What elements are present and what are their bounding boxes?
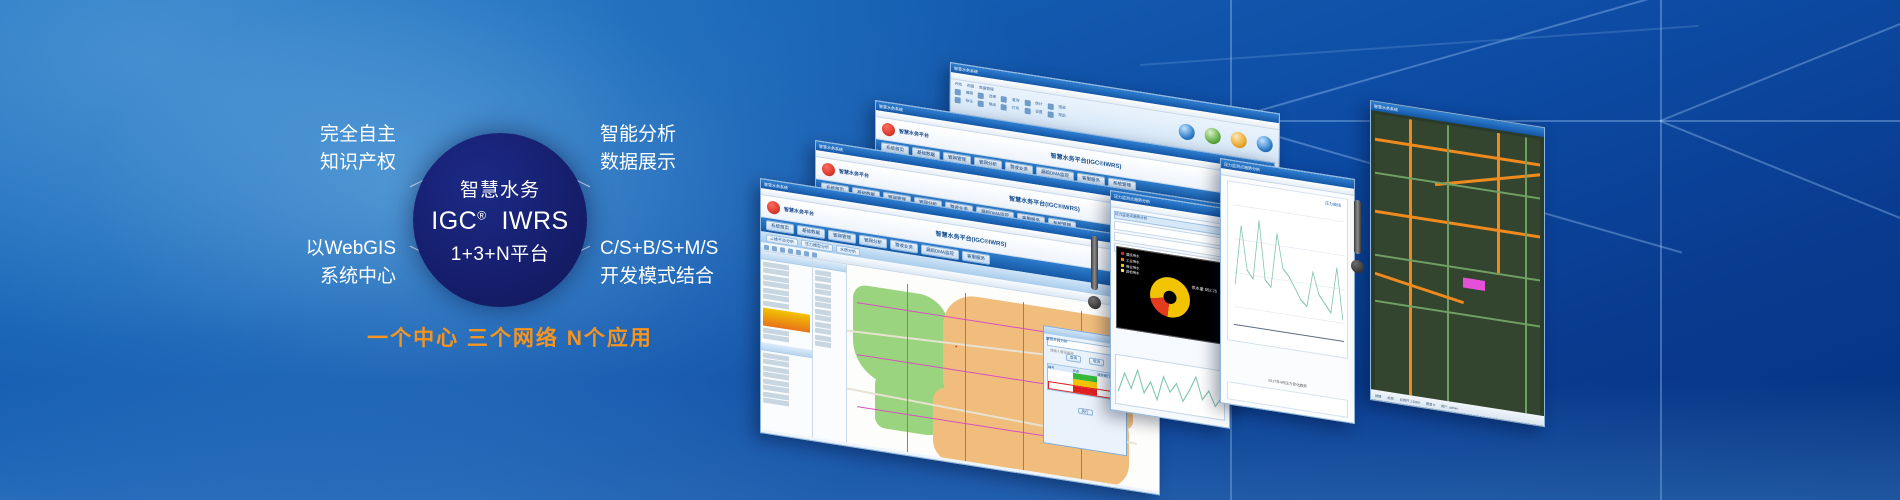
water-drop-logo-icon: [767, 200, 780, 215]
pie-legend: 居民用水 工业用水 商业用水 其他用水: [1121, 252, 1140, 278]
ribbon-icon[interactable]: [1047, 103, 1053, 110]
window-caption: 智慧水务系统: [1374, 103, 1398, 113]
chart-zoom-slider[interactable]: [1354, 199, 1361, 254]
ribbon-command[interactable]: 统计: [1035, 101, 1042, 108]
pie-chart-panel: 居民用水 工业用水 商业用水 其他用水 供水量 552.25: [1116, 246, 1224, 345]
status-item: 坐标: [1387, 394, 1393, 400]
feature-label-top-right: 智能分析 数据展示: [600, 121, 676, 176]
feature-line: 以WebGIS: [196, 235, 396, 263]
badge-iwrs: IWRS: [501, 207, 568, 235]
product-badge-circle: 智慧水务 IGC® IWRS 1+3+N平台: [413, 133, 587, 307]
network-model-icon[interactable]: [1179, 123, 1195, 141]
feature-line: 完全自主: [196, 121, 396, 149]
badge-platform: 1+3+N平台: [451, 239, 550, 266]
zoom-out-icon[interactable]: [780, 247, 785, 253]
ribbon-tab[interactable]: 数据管理: [979, 86, 993, 93]
satellite-map-canvas[interactable]: [1375, 114, 1540, 416]
map-annotation: ●: [955, 343, 957, 348]
status-item: 比例尺 1:5000: [1400, 396, 1420, 404]
status-item: 图层 8: [1426, 400, 1435, 406]
pan-icon[interactable]: [764, 244, 769, 250]
feature-line: 开发模式结合: [600, 263, 718, 291]
dialog-execute-button[interactable]: 执行: [1078, 408, 1093, 416]
app-window-trend-chart[interactable]: 压力监测点趋势分析 压力曲线 2017年4月压力变化趋势: [1220, 158, 1355, 424]
brand-text: 智慧水务平台: [839, 168, 869, 180]
ribbon-icon[interactable]: [1001, 104, 1007, 111]
water-drop-logo-icon: [822, 162, 835, 177]
ribbon-command[interactable]: 帮助: [1058, 113, 1065, 120]
legend-swatch: [1121, 252, 1124, 255]
registered-icon: ®: [477, 208, 486, 222]
ribbon-command[interactable]: 标注: [966, 98, 973, 105]
app-window-statistics[interactable]: 压力监测点趋势分析 压力监测点趋势分析 居民用水 工业用水 商业用水 其他用水 …: [1110, 190, 1230, 429]
ribbon-command[interactable]: 编辑: [966, 90, 973, 97]
legend-swatch: [1121, 269, 1124, 272]
tagline: 一个中心 三个网络 N个应用: [300, 322, 720, 352]
ribbon-icon[interactable]: [955, 89, 961, 96]
feature-label-top-left: 完全自主 知识产权: [196, 121, 396, 176]
feature-label-bottom-left: 以WebGIS 系统中心: [196, 235, 396, 290]
measure-icon[interactable]: [796, 249, 801, 255]
ribbon-command[interactable]: 选择: [989, 94, 996, 101]
feature-line: 系统中心: [196, 263, 396, 291]
mini-trend-chart: [1115, 354, 1225, 421]
badge-title: 智慧水务: [460, 175, 540, 202]
feature-label-bottom-right: C/S+B/S+M/S 开发模式结合: [600, 235, 718, 290]
map-zoom-slider[interactable]: [1091, 235, 1098, 290]
ribbon-icon[interactable]: [978, 100, 984, 107]
ribbon-command[interactable]: 图层: [1058, 105, 1065, 112]
ribbon-icon[interactable]: [1024, 100, 1030, 107]
status-item: 用户: admin: [1441, 403, 1458, 411]
app-window-satellite-map[interactable]: 智慧水务系统 就绪 坐标 比例尺 1:5000 图层 8: [1370, 100, 1545, 427]
ribbon-tab[interactable]: 视图: [967, 84, 974, 90]
ribbon-icon[interactable]: [1047, 111, 1053, 118]
print-icon[interactable]: [812, 252, 817, 258]
ribbon-command[interactable]: 设置: [1035, 109, 1042, 116]
ribbon-command[interactable]: 查询: [1012, 98, 1019, 105]
monitoring-icon[interactable]: [1231, 131, 1247, 149]
dialog-query-button[interactable]: 查询: [1066, 354, 1081, 363]
ribbon-icon[interactable]: [978, 92, 984, 99]
brand-text: 智慧水务平台: [899, 128, 929, 140]
legend-swatch: [1121, 257, 1124, 260]
layer-tree-panel[interactable]: [761, 251, 813, 437]
concept-diagram: 完全自主 知识产权 智能分析 数据展示 以WebGIS 系统中心 C/S+B/S…: [0, 0, 800, 500]
ribbon-tab[interactable]: 开始: [955, 82, 962, 88]
screenshot-stack: 智慧水务系统 开始 视图 数据管理 编辑 选择 查询 统计 图层 标注: [760, 0, 1900, 500]
badge-product-code: IGC® IWRS: [431, 207, 568, 236]
identify-icon[interactable]: [804, 250, 809, 256]
brand-text: 智慧水务平台: [784, 206, 814, 218]
select-icon[interactable]: [788, 248, 793, 254]
pie-total-label: 供水量 552.25: [1192, 285, 1217, 295]
legend-label: 其他用水: [1126, 270, 1140, 276]
tool-palette-panel[interactable]: [813, 259, 847, 442]
hero-banner: 完全自主 知识产权 智能分析 数据展示 以WebGIS 系统中心 C/S+B/S…: [0, 0, 1900, 500]
burst-analysis-icon[interactable]: [1205, 127, 1221, 145]
feature-line: 知识产权: [196, 149, 396, 177]
feature-line: 智能分析: [600, 121, 676, 149]
badge-igc: IGC: [431, 207, 477, 235]
status-item: 就绪: [1375, 392, 1381, 398]
report-output-icon[interactable]: [1257, 135, 1273, 153]
trend-chart-plot: 压力曲线: [1227, 180, 1348, 359]
ribbon-command[interactable]: 输出: [989, 102, 996, 109]
ribbon-command[interactable]: 打印: [1012, 106, 1019, 113]
legend-swatch: [1121, 263, 1124, 266]
zoom-in-icon[interactable]: [772, 245, 777, 251]
feature-line: 数据展示: [600, 149, 676, 177]
dialog-cancel-button[interactable]: 取消: [1089, 357, 1104, 366]
trend-chart-svg: [1228, 181, 1347, 358]
ribbon-icon[interactable]: [955, 97, 961, 104]
pie-chart: [1150, 274, 1190, 320]
ribbon-icon[interactable]: [1001, 96, 1007, 103]
feature-line: C/S+B/S+M/S: [600, 235, 718, 263]
water-drop-logo-icon: [882, 122, 895, 137]
ribbon-icon[interactable]: [1024, 108, 1030, 115]
